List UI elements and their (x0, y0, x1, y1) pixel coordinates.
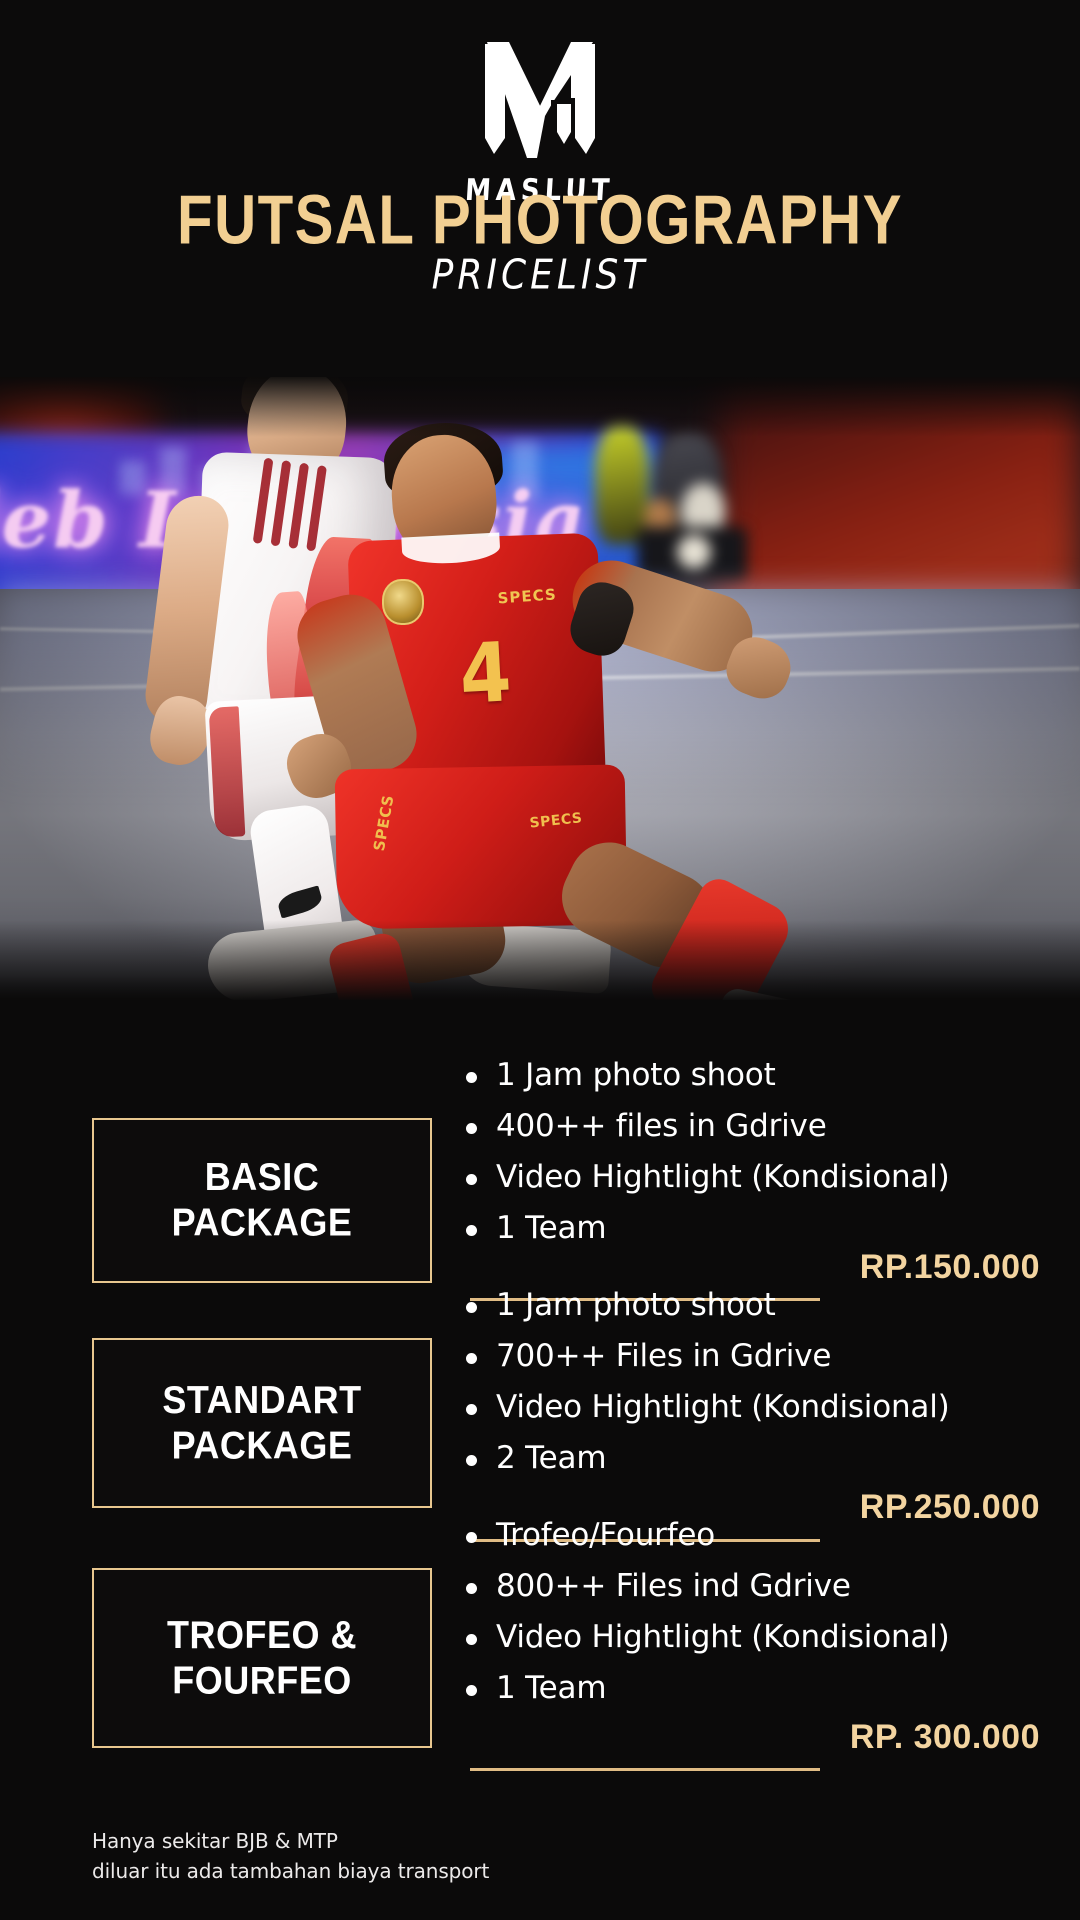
footnote-text: Hanya sekitar BJB & MTPdiluar itu ada ta… (92, 1826, 792, 1886)
package-feature: 700++ Files in Gdrive (462, 1339, 1062, 1375)
package-name: TROFEO &FOURFEO (157, 1612, 367, 1704)
package-price: RP.150.000 (860, 1248, 1040, 1287)
package-feature-list: 1 Jam photo shoot 400++ files in Gdrive … (462, 1058, 1062, 1262)
package-feature: 400++ files in Gdrive (462, 1109, 1062, 1145)
package-feature: 1 Team (462, 1211, 1062, 1247)
package-feature: Video Hightlight (Kondisional) (462, 1390, 1062, 1426)
player-white-jersey-stripes (252, 458, 334, 557)
package-name: BASICPACKAGE (162, 1155, 363, 1247)
package-feature: Video Hightlight (Kondisional) (462, 1160, 1062, 1196)
player-red-kit: SPECS 4 SPECS SPECS (330, 417, 890, 1000)
package-name: STANDARTPACKAGE (152, 1377, 371, 1469)
package-feature: Video Hightlight (Kondisional) (462, 1620, 1062, 1656)
packages-section: BASICPACKAGE 1 Jam photo shoot 400++ fil… (0, 1000, 1080, 1920)
maslut-m-logo-icon (479, 42, 601, 162)
player-red-brand-logo: SPECS (497, 585, 569, 620)
package-divider (470, 1768, 820, 1771)
package-feature: 2 Team (462, 1441, 1062, 1477)
package-price: RP. 300.000 (850, 1718, 1040, 1757)
package-name-box: STANDARTPACKAGE (92, 1338, 432, 1508)
page-subtitle: PRICELIST (0, 252, 1080, 299)
package-name-box: TROFEO &FOURFEO (92, 1568, 432, 1748)
package-name-box: BASICPACKAGE (92, 1118, 432, 1283)
package-feature: 1 Jam photo shoot (462, 1058, 1062, 1094)
package-feature: 800++ Files ind Gdrive (462, 1569, 1062, 1605)
player-red-shirt-number: 4 (458, 633, 534, 723)
package-feature: Trofeo/Fourfeo (462, 1518, 1062, 1554)
header-section: MASLUT FUTSAL PHOTOGRAPHY PRICELIST (0, 0, 1080, 377)
photo-bottom-fade (0, 920, 1080, 1000)
page-title: FUTSAL PHOTOGRAPHY (32, 181, 1047, 261)
futsal-match-photo: leb Indonesia (0, 377, 1080, 1000)
photo-top-fade (0, 377, 1080, 437)
package-feature-list: Trofeo/Fourfeo 800++ Files ind Gdrive Vi… (462, 1518, 1062, 1722)
package-feature-list: 1 Jam photo shoot 700++ Files in Gdrive … (462, 1288, 1062, 1492)
package-feature: 1 Team (462, 1671, 1062, 1707)
player-red-crest-icon (382, 579, 424, 625)
package-feature: 1 Jam photo shoot (462, 1288, 1062, 1324)
